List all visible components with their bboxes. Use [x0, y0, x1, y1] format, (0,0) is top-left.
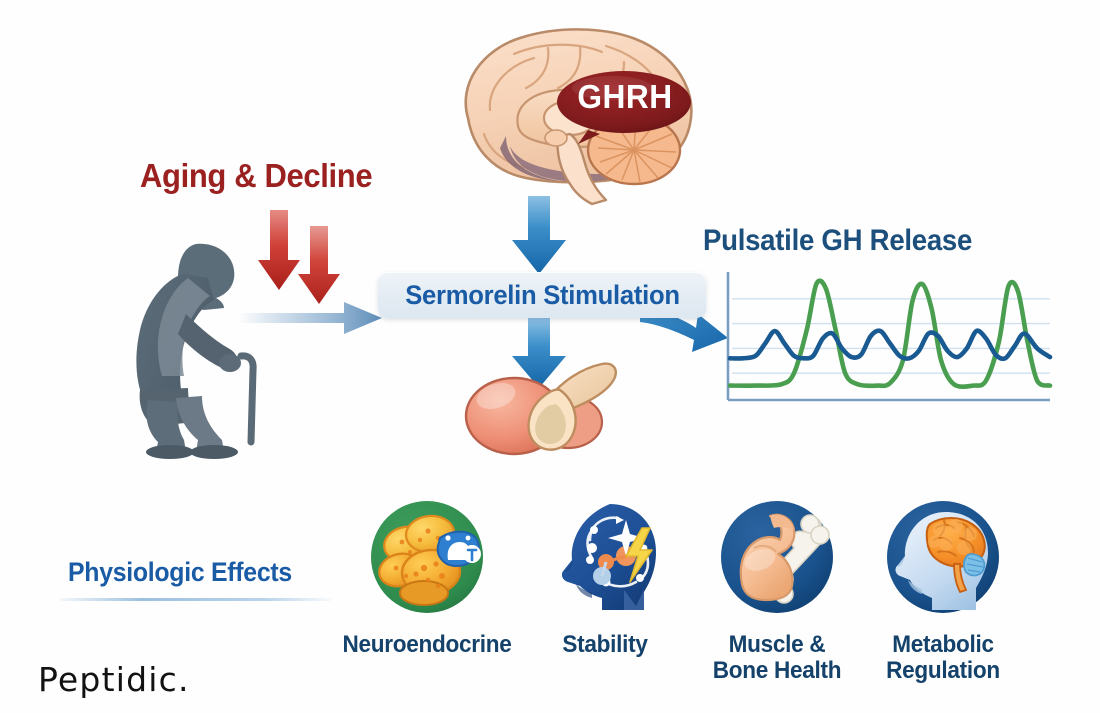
sermorelin-label: Sermorelin Stimulation	[405, 280, 680, 311]
flexed-bicep-and-bone-icon	[718, 498, 836, 616]
aging-title: Aging & Decline	[140, 157, 372, 195]
ghrh-callout: GHRH	[552, 64, 698, 146]
effect-label-muscle-bone-health: Muscle & Bone Health	[688, 632, 867, 684]
effect-label-neuroendocrine: Neuroendocrine	[338, 632, 517, 658]
elderly-person-with-cane-icon	[104, 230, 256, 458]
effect-label-line1: Metabolic	[854, 632, 1033, 658]
head-profile-orange-brain-icon	[884, 498, 1002, 616]
glands-cluster-green-circle-icon	[368, 498, 486, 616]
effect-item-metabolic-regulation[interactable]: Metabolic Regulation	[848, 498, 1038, 684]
infographic-canvas: GHRH Aging & Decline	[0, 0, 1100, 713]
flow-arrow-right-icon	[236, 298, 384, 338]
head-profile-neural-network-icon	[546, 498, 664, 616]
physiologic-effects-heading: Physiologic Effects	[68, 557, 292, 588]
effect-label-stability: Stability	[516, 632, 695, 658]
gh-release-chart	[714, 270, 1054, 410]
effect-item-stability[interactable]: Stability	[510, 498, 700, 658]
effect-label-line2: Bone Health	[688, 658, 867, 684]
sermorelin-stimulation-banner[interactable]: Sermorelin Stimulation	[378, 272, 706, 318]
double-down-arrow-icon	[258, 210, 350, 306]
down-arrow-brain-to-pill-icon	[508, 196, 570, 276]
pulsatile-gh-release-title: Pulsatile GH Release	[703, 224, 972, 258]
watermark-logo: Peptidic.	[38, 660, 190, 699]
pituitary-gland-icon	[452, 350, 622, 460]
effect-label-metabolic-regulation: Metabolic Regulation	[854, 632, 1033, 684]
ghrh-label: GHRH	[555, 78, 695, 116]
physiologic-effects-divider	[60, 598, 332, 601]
effect-label-line2: Regulation	[854, 658, 1033, 684]
effect-item-muscle-bone-health[interactable]: Muscle & Bone Health	[682, 498, 872, 684]
effect-item-neuroendocrine[interactable]: Neuroendocrine	[332, 498, 522, 658]
effect-label-line1: Muscle &	[688, 632, 867, 658]
